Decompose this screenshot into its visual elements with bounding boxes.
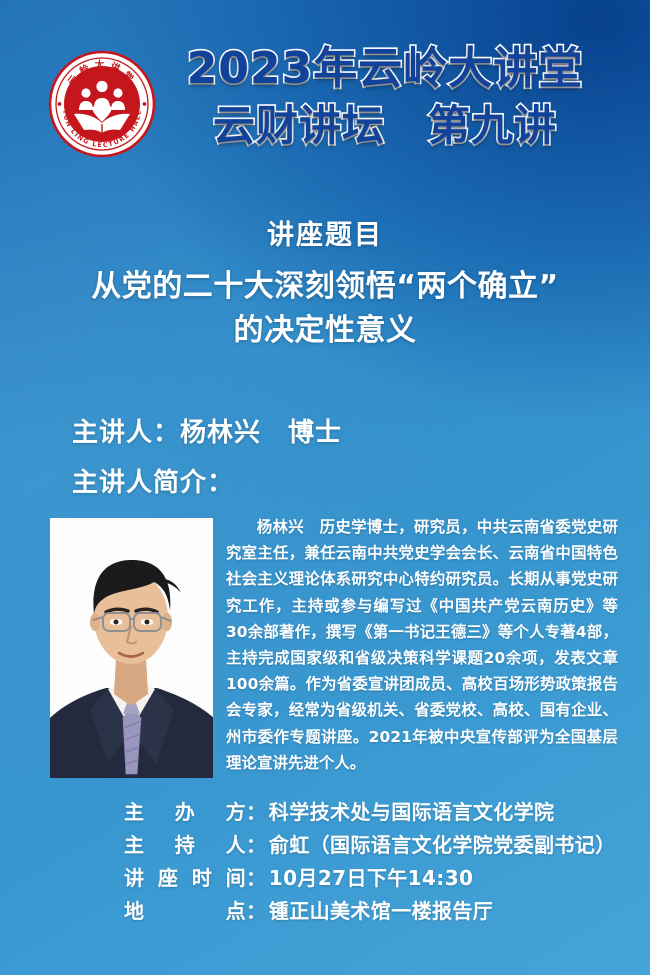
lecture-title-section: 讲座题目 从党的二十大深刻领悟“两个确立” 的决定性意义 (0, 222, 650, 354)
info-sep-organizer: ： (246, 796, 266, 829)
poster-title-line1: 2023年云岭大讲堂 (150, 40, 620, 98)
info-sep-host: ： (246, 829, 266, 862)
info-value-time: 10月27日下午14:30 (269, 862, 474, 895)
info-sep-time: ： (246, 862, 266, 895)
info-key-host: 主持人 (124, 829, 246, 862)
yun-ling-lecture-hall-logo-icon: 云岭大讲堂 YUN LING LECTURE HALL (48, 50, 156, 158)
speaker-portrait-photo (50, 518, 213, 778)
info-row-organizer: 主办方 ： 科学技术处与国际语言文化学院 (124, 796, 616, 829)
speaker-bio-text: 杨林兴 历史学博士，研究员，中共云南省委党史研究室主任，兼任云南中共党史学会会长… (226, 514, 618, 776)
lecture-title-label: 讲座题目 (0, 222, 650, 249)
poster-title-block: 2023年云岭大讲堂 云财讲坛 第九讲 (150, 40, 620, 154)
speaker-name-line: 主讲人：杨林兴 博士 (72, 412, 342, 449)
info-key-organizer: 主办方 (124, 796, 246, 829)
info-value-organizer: 科学技术处与国际语言文化学院 (269, 796, 555, 829)
info-value-host: 俞虹（国际语言文化学院党委副书记） (269, 829, 616, 862)
event-info-list: 主办方 ： 科学技术处与国际语言文化学院 主持人 ： 俞虹（国际语言文化学院党委… (124, 796, 616, 928)
info-key-time: 讲座时间 (124, 862, 246, 895)
info-value-location: 锺正山美术馆一楼报告厅 (269, 895, 493, 928)
poster-header: 云岭大讲堂 YUN LING LECTURE HALL (0, 40, 650, 190)
lecture-title-line1: 从党的二十大深刻领悟“两个确立” (0, 265, 650, 309)
speaker-intro-label: 主讲人简介： (72, 462, 234, 499)
info-row-location: 地点 ： 锺正山美术馆一楼报告厅 (124, 895, 616, 928)
info-row-host: 主持人 ： 俞虹（国际语言文化学院党委副书记） (124, 829, 616, 862)
lecture-title-line2: 的决定性意义 (0, 309, 650, 353)
info-row-time: 讲座时间 ： 10月27日下午14:30 (124, 862, 616, 895)
info-key-location: 地点 (124, 895, 246, 928)
lecture-poster: 云岭大讲堂 YUN LING LECTURE HALL (0, 0, 650, 975)
info-sep-location: ： (246, 895, 266, 928)
poster-title-line2: 云财讲坛 第九讲 (150, 98, 620, 153)
